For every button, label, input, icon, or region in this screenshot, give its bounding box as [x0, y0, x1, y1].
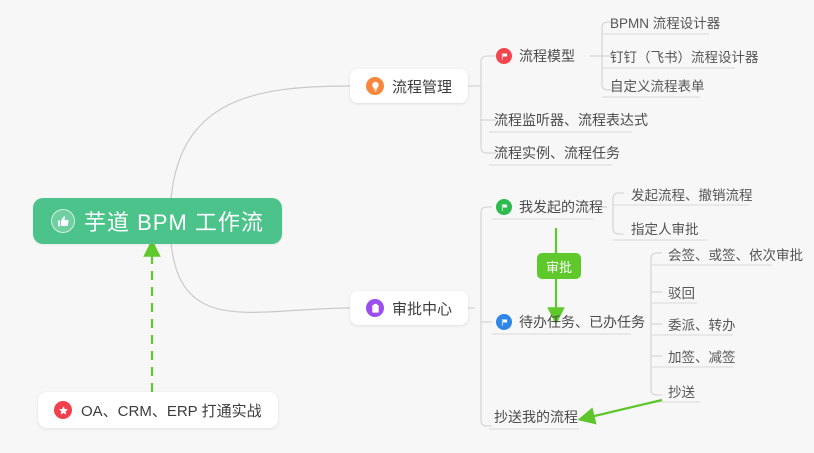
leaf-node-cc[interactable]: 抄送	[662, 378, 703, 404]
leaf-label: 抄送	[668, 381, 695, 401]
sub-node-process-model[interactable]: 流程模型	[492, 42, 581, 70]
leaf-node-delegate-transfer[interactable]: 委派、转办	[662, 311, 744, 337]
sub-node-listener-expression[interactable]: 流程监听器、流程表达式	[490, 106, 654, 134]
annotation-chip-approval[interactable]: 审批	[537, 253, 581, 279]
leaf-label: 发起流程、撤销流程	[631, 184, 753, 204]
flag-icon	[496, 314, 512, 330]
sub-label: 我发起的流程	[519, 197, 603, 217]
annotation-arrow-cc-to-ccflow	[586, 400, 662, 418]
leaf-label: 钉钉（飞书）流程设计器	[610, 46, 759, 66]
flag-icon	[496, 48, 512, 64]
branch-node-approval-center[interactable]: 审批中心	[350, 291, 468, 325]
leaf-node-dingtalk-designer[interactable]: 钉钉（飞书）流程设计器	[604, 43, 767, 69]
callout-node-integration[interactable]: OA、CRM、ERP 打通实战	[38, 392, 278, 428]
clipboard-icon	[366, 299, 384, 317]
leaf-node-add-remove-sign[interactable]: 加签、减签	[662, 343, 744, 369]
sub-label: 待办任务、已办任务	[519, 312, 645, 332]
leaf-label: 自定义流程表单	[610, 75, 705, 95]
flag-icon	[496, 199, 512, 215]
sub-label: 流程模型	[519, 46, 575, 66]
leaf-node-bpmn-designer[interactable]: BPMN 流程设计器	[604, 9, 728, 35]
leaf-node-countersign[interactable]: 会签、或签、依次审批	[662, 241, 811, 267]
sub-node-todo-done-tasks[interactable]: 待办任务、已办任务	[492, 308, 651, 336]
mindmap-canvas[interactable]: 芋道 BPM 工作流 流程管理 流程模型 BPMN 流程设计器 钉钉（飞书）流程…	[0, 0, 814, 453]
leaf-node-start-cancel[interactable]: 发起流程、撤销流程	[625, 181, 761, 207]
sub-label: 流程监听器、流程表达式	[494, 110, 648, 130]
leaf-node-custom-form[interactable]: 自定义流程表单	[604, 72, 713, 98]
leaf-node-reject[interactable]: 驳回	[662, 279, 703, 305]
leaf-label: BPMN 流程设计器	[610, 12, 720, 32]
annotation-chip-label: 审批	[546, 257, 572, 276]
leaf-label: 会签、或签、依次审批	[668, 244, 803, 264]
callout-label: OA、CRM、ERP 打通实战	[81, 400, 262, 421]
root-label: 芋道 BPM 工作流	[84, 205, 264, 237]
star-icon	[54, 401, 72, 419]
branch-label: 流程管理	[392, 76, 452, 97]
sub-node-my-initiated[interactable]: 我发起的流程	[492, 193, 609, 221]
lightbulb-icon	[366, 77, 384, 95]
root-node[interactable]: 芋道 BPM 工作流	[33, 198, 282, 244]
sub-node-instance-task[interactable]: 流程实例、流程任务	[490, 139, 626, 167]
sub-label: 流程实例、流程任务	[494, 143, 620, 163]
leaf-label: 加签、减签	[668, 346, 736, 366]
sub-label: 抄送我的流程	[494, 407, 578, 427]
leaf-label: 委派、转办	[668, 314, 736, 334]
thumbs-up-icon	[51, 209, 75, 233]
leaf-label: 驳回	[668, 282, 695, 302]
branch-label: 审批中心	[392, 298, 452, 319]
branch-node-process-management[interactable]: 流程管理	[350, 69, 468, 103]
sub-node-cc-to-me[interactable]: 抄送我的流程	[490, 403, 584, 431]
leaf-node-assignee-approval[interactable]: 指定人审批	[625, 215, 707, 241]
leaf-label: 指定人审批	[631, 218, 699, 238]
